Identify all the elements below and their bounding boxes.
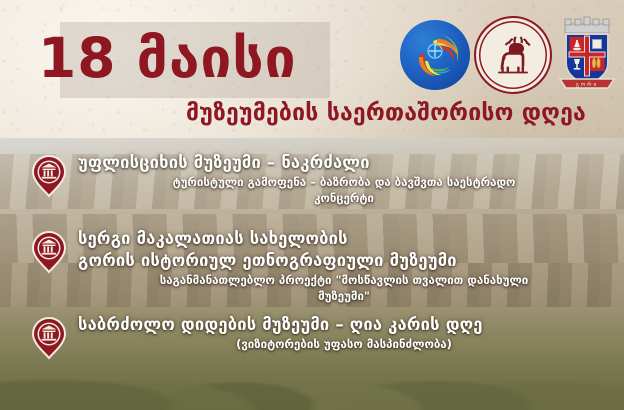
entry-3-subline-1: (ვიზიტორების უფასო მასპინძლობა) [78, 336, 610, 352]
page-subtitle: მუზეუმების საერთაშორისო დღეა [186, 98, 586, 128]
icom-international-museum-day-logo [400, 20, 470, 90]
entry-1-heading: უფლისციხის მუზეუმი – ნაკრძალი [78, 152, 610, 174]
entry-2-subline-1: საგანმანათლებლო პროექტი "მოსწავლის თვალი… [78, 272, 610, 288]
entry-2-heading-2: გორის ისტორიულ ეთნოგრაფიული მუზეუმი [78, 250, 610, 272]
program-entry-1-text: უფლისციხის მუზეუმი – ნაკრძალი ტურისტული … [78, 152, 610, 206]
museum-pin-icon [30, 316, 68, 360]
entry-3-heading: საბრძოლო დიდების მუზეუმი – ღია კარის დღე [78, 314, 610, 336]
program-entry-2-text: სერგი მაკალათიას სახელობის გორის ისტორიუ… [78, 228, 610, 304]
program-entry-3[interactable]: საბრძოლო დიდების მუზეუმი – ღია კარის დღე… [30, 314, 610, 352]
stag-icon [487, 29, 539, 81]
shield-icon: გორი [556, 16, 618, 94]
entry-2-subline-2: მუზეუმი" [78, 288, 610, 304]
program-entry-3-text: საბრძოლო დიდების მუზეუმი – ღია კარის დღე… [78, 314, 610, 352]
gori-municipality-coat-of-arms: გორი [556, 16, 618, 94]
svg-text:გორი: გორი [576, 81, 599, 88]
entry-1-subline-1: ტურისტული გამოფენა – ბაზრობა და ბავშვთა … [78, 174, 610, 190]
page-title: 18 მაისი [38, 23, 368, 93]
program-entry-1[interactable]: უფლისციხის მუზეუმი – ნაკრძალი ტურისტული … [30, 152, 610, 206]
entry-1-subline-2: კონცერტი [78, 190, 610, 206]
museum-day-poster: 18 მაისი მუზეუმების საერთაშორისო დღეა [0, 0, 624, 410]
logo-row: გორი [400, 16, 618, 94]
program-list: უფლისციხის მუზეუმი – ნაკრძალი ტურისტული … [0, 138, 624, 410]
icom-flame-icon [400, 20, 470, 90]
museum-pin-icon [30, 230, 68, 274]
gori-museum-deer-emblem [474, 16, 552, 94]
entry-2-heading: სერგი მაკალათიას სახელობის [78, 228, 610, 250]
museum-pin-icon [30, 154, 68, 198]
program-entry-2[interactable]: სერგი მაკალათიას სახელობის გორის ისტორიუ… [30, 228, 610, 304]
